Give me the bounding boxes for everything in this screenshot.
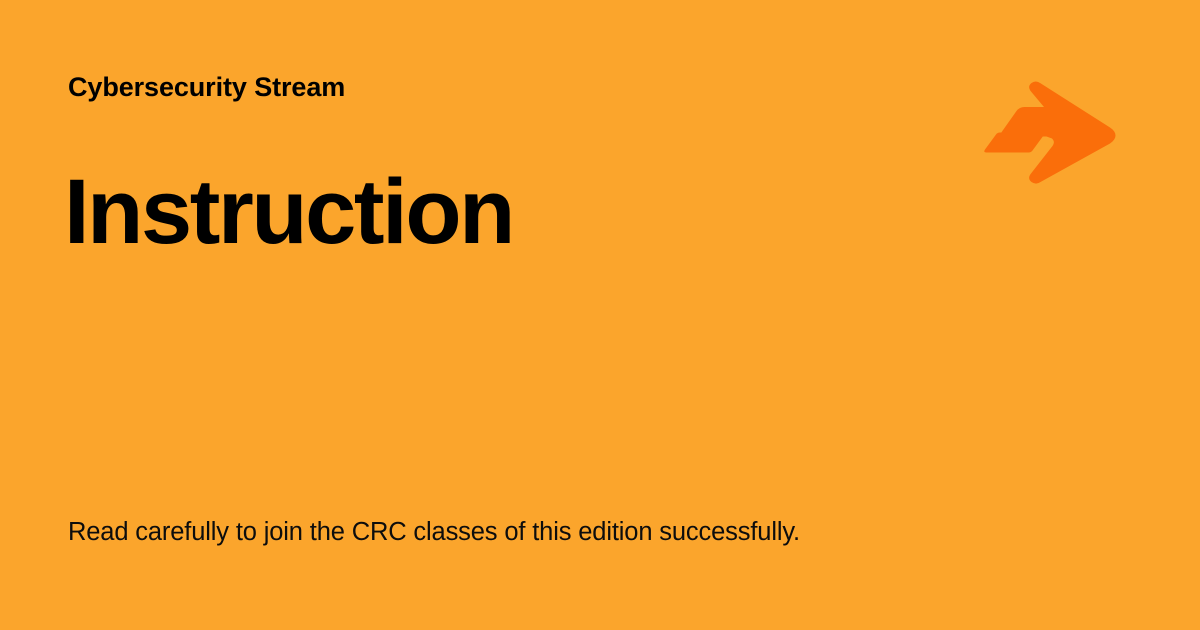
page-title: Instruction bbox=[64, 160, 513, 264]
stream-label: Cybersecurity Stream bbox=[68, 70, 345, 104]
arrow-dash bbox=[984, 133, 1044, 153]
page-subtitle: Read carefully to join the CRC classes o… bbox=[68, 515, 800, 549]
instruction-banner: Cybersecurity Stream Instruction Read ca… bbox=[0, 0, 1200, 630]
arrow-right-icon bbox=[968, 80, 1118, 185]
brand-logo bbox=[968, 80, 1118, 185]
